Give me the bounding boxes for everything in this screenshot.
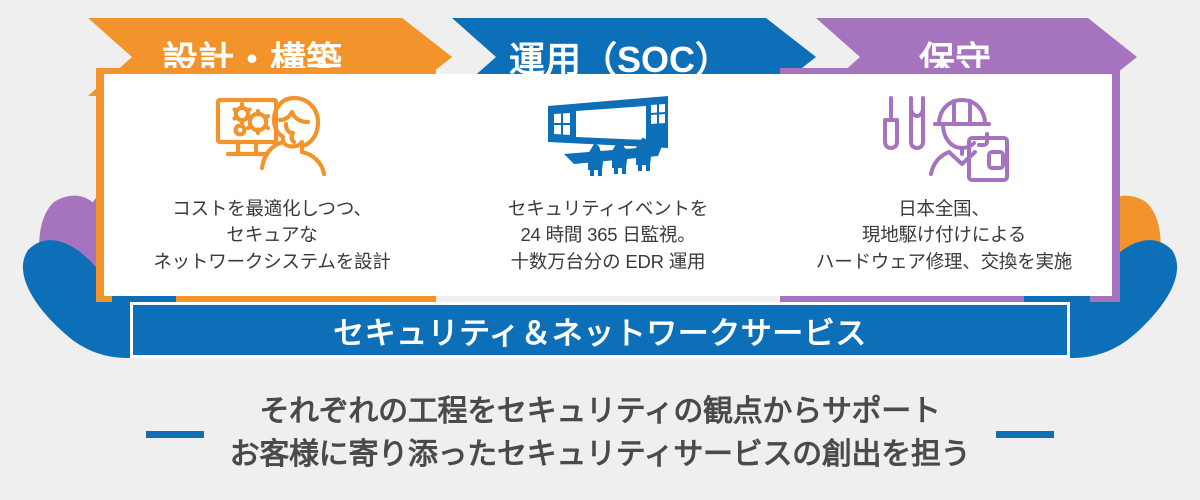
card-maintenance: 日本全国、 現地駆け付けによる ハードウェア修理、交換を実施: [776, 74, 1112, 296]
infographic-canvas: 設計・構築 運用（SOC） 保守: [0, 0, 1200, 500]
caption-rule-right: [996, 431, 1054, 438]
soc-monitoring-wall-icon: [538, 88, 678, 192]
card-text-operation: セキュリティイベントを 24 時間 365 日監視。 十数万台分の EDR 運用: [508, 196, 708, 275]
card-text-design: コストを最適化しつつ、 セキュアな ネットワークシステムを設計: [153, 196, 390, 275]
card-text-maintenance: 日本全国、 現地駆け付けによる ハードウェア修理、交換を実施: [816, 196, 1072, 275]
card-design: コストを最適化しつつ、 セキュアな ネットワークシステムを設計: [104, 74, 440, 296]
card-operation: セキュリティイベントを 24 時間 365 日監視。 十数万台分の EDR 運用: [440, 74, 776, 296]
service-ribbon: セキュリティ＆ネットワークサービス: [0, 296, 1200, 366]
monitor-gears-engineer-icon: [212, 88, 332, 192]
phase-card-strip: コストを最適化しつつ、 セキュアな ネットワークシステムを設計: [104, 74, 1112, 296]
caption-text: それぞれの工程をセキュリティの観点からサポート お客様に寄り添ったセキュリティサ…: [230, 391, 971, 476]
caption-rule-left: [146, 431, 204, 438]
field-technician-tools-icon: [879, 88, 1009, 192]
summary-caption: それぞれの工程をセキュリティの観点からサポート お客様に寄り添ったセキュリティサ…: [0, 378, 1200, 490]
service-ribbon-label: セキュリティ＆ネットワークサービス: [333, 308, 867, 353]
service-ribbon-bar: セキュリティ＆ネットワークサービス: [130, 302, 1070, 358]
